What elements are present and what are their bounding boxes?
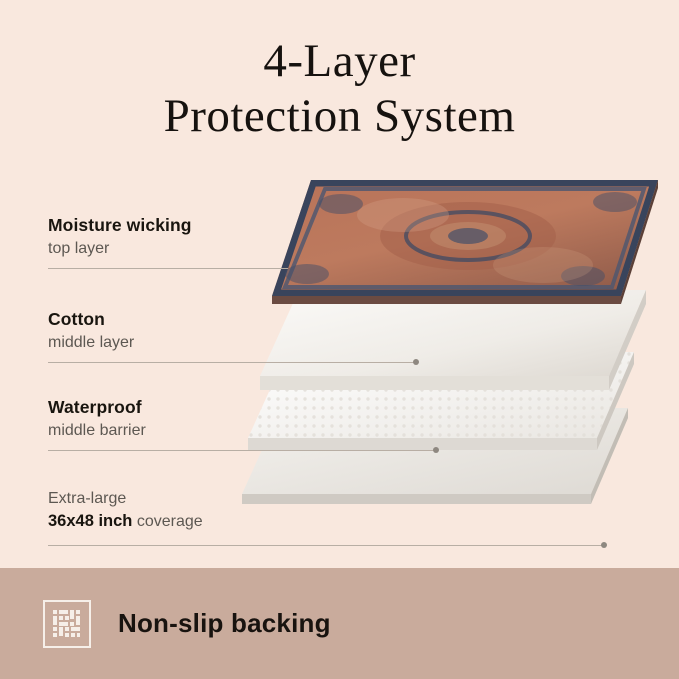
layer-rug-top [263, 170, 663, 370]
leader-line-4 [48, 545, 604, 546]
bottom-bar-label: Non-slip backing [118, 608, 331, 639]
bottom-bar: Non-slip backing [0, 568, 679, 679]
callout-size: Extra-large 36x48 inch coverage [48, 488, 328, 532]
callout-subtitle: middle barrier [48, 420, 278, 442]
infographic-page: 4-Layer Protection System [0, 0, 679, 679]
callout-title: Waterproof [48, 396, 278, 419]
callout-title: Cotton [48, 308, 278, 331]
callout-subtitle: top layer [48, 238, 278, 260]
leader-line-1 [48, 268, 288, 269]
size-suffix: coverage [132, 513, 202, 530]
leader-line-3 [48, 450, 436, 451]
leader-dot-4 [601, 542, 607, 548]
leader-line-2 [48, 362, 416, 363]
size-line-1: Extra-large [48, 488, 328, 510]
callout-subtitle: middle layer [48, 332, 278, 354]
leader-dot-3 [433, 447, 439, 453]
grip-pattern-icon [43, 600, 91, 648]
callout-moisture-wicking: Moisture wicking top layer [48, 214, 278, 259]
size-line-2: 36x48 inch coverage [48, 510, 328, 533]
callout-cotton: Cotton middle layer [48, 308, 278, 353]
leader-dot-2 [413, 359, 419, 365]
title-line-2: Protection System [0, 89, 679, 144]
callout-title: Moisture wicking [48, 214, 278, 237]
callout-waterproof: Waterproof middle barrier [48, 396, 278, 441]
title-line-1: 4-Layer [0, 34, 679, 89]
size-measurement: 36x48 inch [48, 512, 132, 530]
page-title: 4-Layer Protection System [0, 34, 679, 144]
